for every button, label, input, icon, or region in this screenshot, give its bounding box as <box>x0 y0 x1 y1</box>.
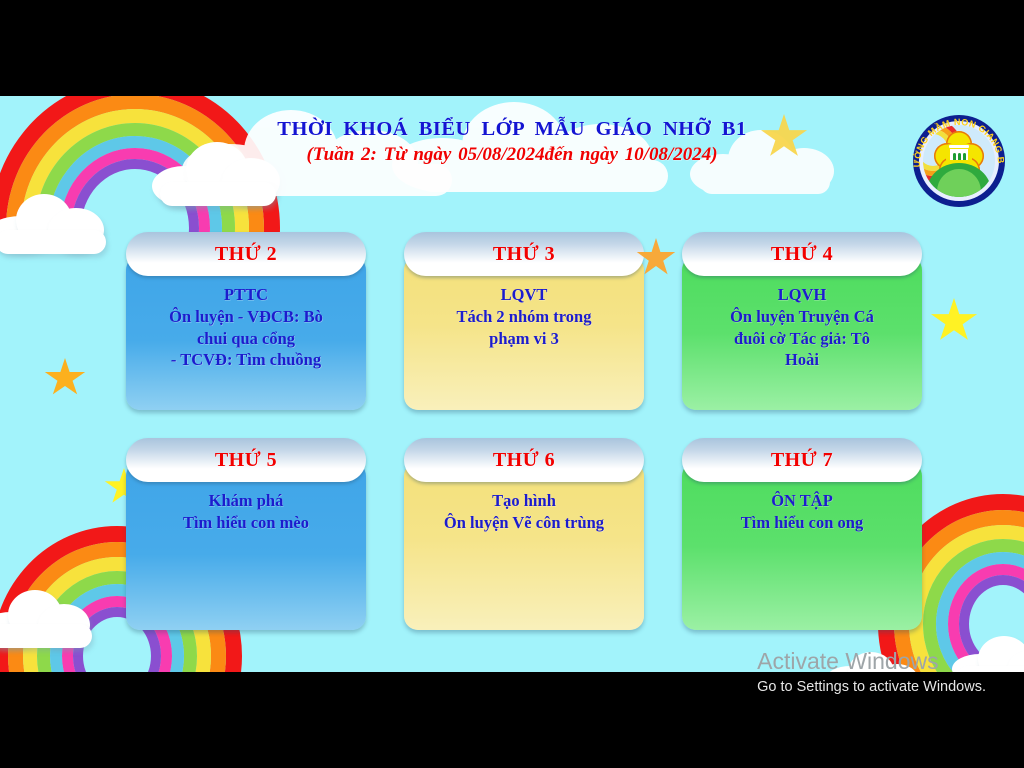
activity-line: đuôi cờ Tác giả: Tô <box>690 328 914 350</box>
activity-line: LQVT <box>412 284 636 306</box>
card-header-thu-5: THỨ 5 <box>126 438 366 482</box>
slide-canvas: THỜI KHOÁ BIỂU LỚP MẪU GIÁO NHỠ B1 (Tuần… <box>0 96 1024 672</box>
slide-stage: THỜI KHOÁ BIỂU LỚP MẪU GIÁO NHỠ B1 (Tuần… <box>0 0 1024 768</box>
activity-line: Tìm hiểu con ong <box>690 512 914 534</box>
schedule-card-thu-5[interactable]: THỨ 5 Khám phá Tìm hiểu con mèo <box>126 438 366 630</box>
activity-line: Tìm hiểu con mèo <box>134 512 358 534</box>
card-body-thu-5: Khám phá Tìm hiểu con mèo <box>126 462 366 630</box>
activity-line: Ôn luyện - VĐCB: Bò <box>134 306 358 328</box>
activity-line: Tách 2 nhóm trong <box>412 306 636 328</box>
card-header-thu-7: THỨ 7 <box>682 438 922 482</box>
svg-text:TRƯỜNG MẦM NON GIANG BIÊN: TRƯỜNG MẦM NON GIANG BIÊN <box>906 108 1006 167</box>
schedule-card-thu-7[interactable]: THỨ 7 ÔN TẬP Tìm hiểu con ong <box>682 438 922 630</box>
activity-line: chui qua cổng <box>134 328 358 350</box>
card-body-thu-3: LQVT Tách 2 nhóm trong phạm vi 3 <box>404 256 644 410</box>
card-body-thu-7: ÔN TẬP Tìm hiểu con ong <box>682 462 922 630</box>
activity-line: Ôn luyện Vẽ côn trùng <box>412 512 636 534</box>
day-label: THỨ 5 <box>215 449 277 472</box>
activity-line: LQVH <box>690 284 914 306</box>
activity-line: - TCVĐ: Tìm chuồng <box>134 349 358 371</box>
card-body-thu-2: PTTC Ôn luyện - VĐCB: Bò chui qua cổng -… <box>126 256 366 410</box>
activity-line: Ôn luyện Truyện Cá <box>690 306 914 328</box>
day-label: THỨ 4 <box>771 243 833 266</box>
schedule-card-thu-3[interactable]: THỨ 3 LQVT Tách 2 nhóm trong phạm vi 3 <box>404 232 644 410</box>
schedule-grid: THỨ 2 PTTC Ôn luyện - VĐCB: Bò chui qua … <box>0 96 1024 672</box>
school-logo: TRƯỜNG MẦM NON GIANG BIÊN <box>906 108 1012 214</box>
card-header-thu-6: THỨ 6 <box>404 438 644 482</box>
day-label: THỨ 7 <box>771 449 833 472</box>
card-body-thu-4: LQVH Ôn luyện Truyện Cá đuôi cờ Tác giả:… <box>682 256 922 410</box>
logo-ring-text-label: TRƯỜNG MẦM NON GIANG BIÊN <box>906 108 1006 167</box>
day-label: THỨ 3 <box>493 243 555 266</box>
letterbox-top <box>0 0 1024 96</box>
schedule-card-thu-2[interactable]: THỨ 2 PTTC Ôn luyện - VĐCB: Bò chui qua … <box>126 232 366 410</box>
card-header-thu-2: THỨ 2 <box>126 232 366 276</box>
letterbox-bottom <box>0 672 1024 768</box>
card-body-thu-6: Tạo hình Ôn luyện Vẽ côn trùng <box>404 462 644 630</box>
activity-line: Khám phá <box>134 490 358 512</box>
schedule-card-thu-6[interactable]: THỨ 6 Tạo hình Ôn luyện Vẽ côn trùng <box>404 438 644 630</box>
activity-line: ÔN TẬP <box>690 490 914 512</box>
activity-line: Hoài <box>690 349 914 371</box>
activity-line: PTTC <box>134 284 358 306</box>
activity-line: phạm vi 3 <box>412 328 636 350</box>
logo-ring-text: TRƯỜNG MẦM NON GIANG BIÊN <box>906 108 1012 214</box>
day-label: THỨ 6 <box>493 449 555 472</box>
day-label: THỨ 2 <box>215 243 277 266</box>
schedule-card-thu-4[interactable]: THỨ 4 LQVH Ôn luyện Truyện Cá đuôi cờ Tá… <box>682 232 922 410</box>
card-header-thu-3: THỨ 3 <box>404 232 644 276</box>
card-header-thu-4: THỨ 4 <box>682 232 922 276</box>
activity-line: Tạo hình <box>412 490 636 512</box>
